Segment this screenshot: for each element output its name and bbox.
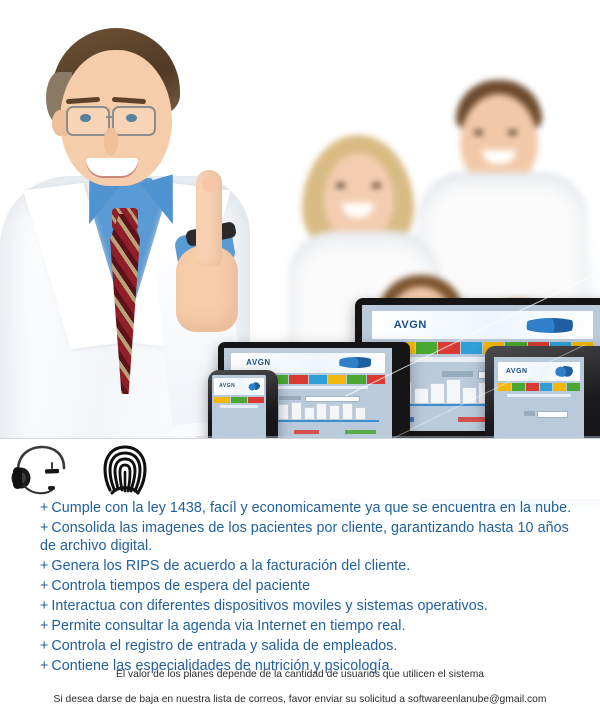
nav-item[interactable] <box>540 383 553 392</box>
feature-list: +Cumple con la ley 1438, facíl y economi… <box>40 499 580 675</box>
app-text-input[interactable] <box>537 411 568 418</box>
nav-item[interactable] <box>461 342 482 355</box>
shelf-item[interactable] <box>291 402 302 420</box>
nav-item[interactable] <box>512 383 525 392</box>
doctor-nose <box>104 128 118 156</box>
icon-strip <box>0 439 600 499</box>
nav-item[interactable] <box>289 375 307 384</box>
feature-text: Genera los RIPS de acuerdo a la facturac… <box>51 558 410 574</box>
app-logo-laptop: AVGN <box>231 358 271 367</box>
app-header: AVGN <box>498 362 581 382</box>
nav-item[interactable] <box>214 397 230 404</box>
cloud-icon <box>336 357 376 368</box>
app-nav-bar <box>214 397 264 404</box>
app-header: AVGN <box>214 378 264 395</box>
bullet-plus: + <box>40 578 48 594</box>
feature-text: Interactua con diferentes dispositivos m… <box>51 598 488 614</box>
shelf-item[interactable] <box>329 405 340 420</box>
feature-item-2: +Consolida las imagenes de los pacientes… <box>40 519 580 556</box>
footer-link[interactable] <box>345 430 376 434</box>
mother-eye-right <box>372 183 381 188</box>
pricing-note: El valor de los planes depende de la can… <box>0 669 600 680</box>
app-field-label <box>524 411 536 416</box>
doctor-eyeglass-bridge <box>106 116 114 118</box>
app-field-label <box>442 371 473 377</box>
feature-item-7: +Controla el registro de entrada y salid… <box>40 637 580 655</box>
app-field-label <box>279 396 301 401</box>
app-breadcrumb <box>220 405 259 408</box>
smartphone: AVGN <box>208 370 278 438</box>
father-eye-left <box>474 130 483 135</box>
bullet-plus: + <box>40 558 48 574</box>
fingerprint-icon <box>96 441 154 497</box>
app-breadcrumb <box>507 394 572 398</box>
doctor-fingernail <box>202 176 217 192</box>
feature-item-5: +Interactua con diferentes dispositivos … <box>40 597 580 615</box>
promotional-flyer: AVGN <box>0 0 600 710</box>
cloud-icon <box>248 382 261 391</box>
nav-item[interactable] <box>248 397 264 404</box>
shelf-item[interactable] <box>342 403 353 420</box>
feature-item-3: +Genera los RIPS de acuerdo a la factura… <box>40 557 580 575</box>
shelf-item[interactable] <box>414 388 429 404</box>
web-app-preview-phone: AVGN <box>212 375 266 438</box>
web-app-preview-tablet: AVGN <box>494 357 584 438</box>
app-header: AVGN <box>372 311 594 339</box>
tablet-bezel: AVGN <box>485 346 600 438</box>
feature-item-1: +Cumple con la ley 1438, facíl y economi… <box>40 499 580 517</box>
bullet-plus: + <box>40 618 48 634</box>
phone-bezel: AVGN <box>208 370 278 438</box>
mother-head <box>324 153 394 241</box>
cloud-icon <box>554 366 576 377</box>
unsubscribe-note: Si desea darse de baja en nuestra lista … <box>0 694 600 705</box>
doctor-eyeglass-right <box>112 106 156 136</box>
nav-item[interactable] <box>309 375 327 384</box>
headset-icon <box>8 441 74 497</box>
bullet-plus: + <box>40 520 48 536</box>
shelf-item[interactable] <box>355 407 366 420</box>
feature-text: Controla el registro de entrada y salida… <box>51 638 397 654</box>
mother-eye-left <box>336 183 345 188</box>
hero-photo-collage: AVGN <box>0 0 600 438</box>
feature-text: Cumple con la ley 1438, facíl y economic… <box>51 500 571 516</box>
nav-item[interactable] <box>231 397 247 404</box>
feature-text: Consolida las imagenes de los pacientes … <box>40 520 569 554</box>
feature-text: Permite consultar la agenda via Internet… <box>51 618 405 634</box>
father-eye-right <box>508 130 517 135</box>
tablet-screen: AVGN <box>494 357 584 438</box>
app-nav-bar <box>498 383 581 392</box>
shelf-item[interactable] <box>278 404 289 420</box>
app-logo-desktop: AVGN <box>372 319 427 331</box>
device-mockups: AVGN <box>190 290 600 438</box>
bullet-plus: + <box>40 500 48 516</box>
app-logo-phone: AVGN <box>214 383 235 389</box>
feature-text: Controla tiempos de espera del paciente <box>51 578 310 594</box>
nav-item[interactable] <box>526 383 539 392</box>
shelf-item[interactable] <box>446 379 461 403</box>
tablet: AVGN <box>485 346 600 438</box>
shelf-item[interactable] <box>304 407 315 420</box>
nav-item[interactable] <box>553 383 566 392</box>
feature-item-6: +Permite consultar la agenda via Interne… <box>40 617 580 635</box>
bullet-plus: + <box>40 638 48 654</box>
phone-screen: AVGN <box>212 375 266 438</box>
bullet-plus: + <box>40 598 48 614</box>
nav-item[interactable] <box>347 375 365 384</box>
shelf-item[interactable] <box>316 403 327 420</box>
cloud-icon <box>522 318 580 333</box>
feature-item-4: +Controla tiempos de espera del paciente <box>40 577 580 595</box>
nav-item[interactable] <box>567 383 580 392</box>
nav-item[interactable] <box>328 375 346 384</box>
doctor-eyeglass-left <box>66 106 110 136</box>
shelf-item[interactable] <box>430 383 445 403</box>
doctor-smile <box>86 158 138 178</box>
footer-link[interactable] <box>294 430 319 434</box>
